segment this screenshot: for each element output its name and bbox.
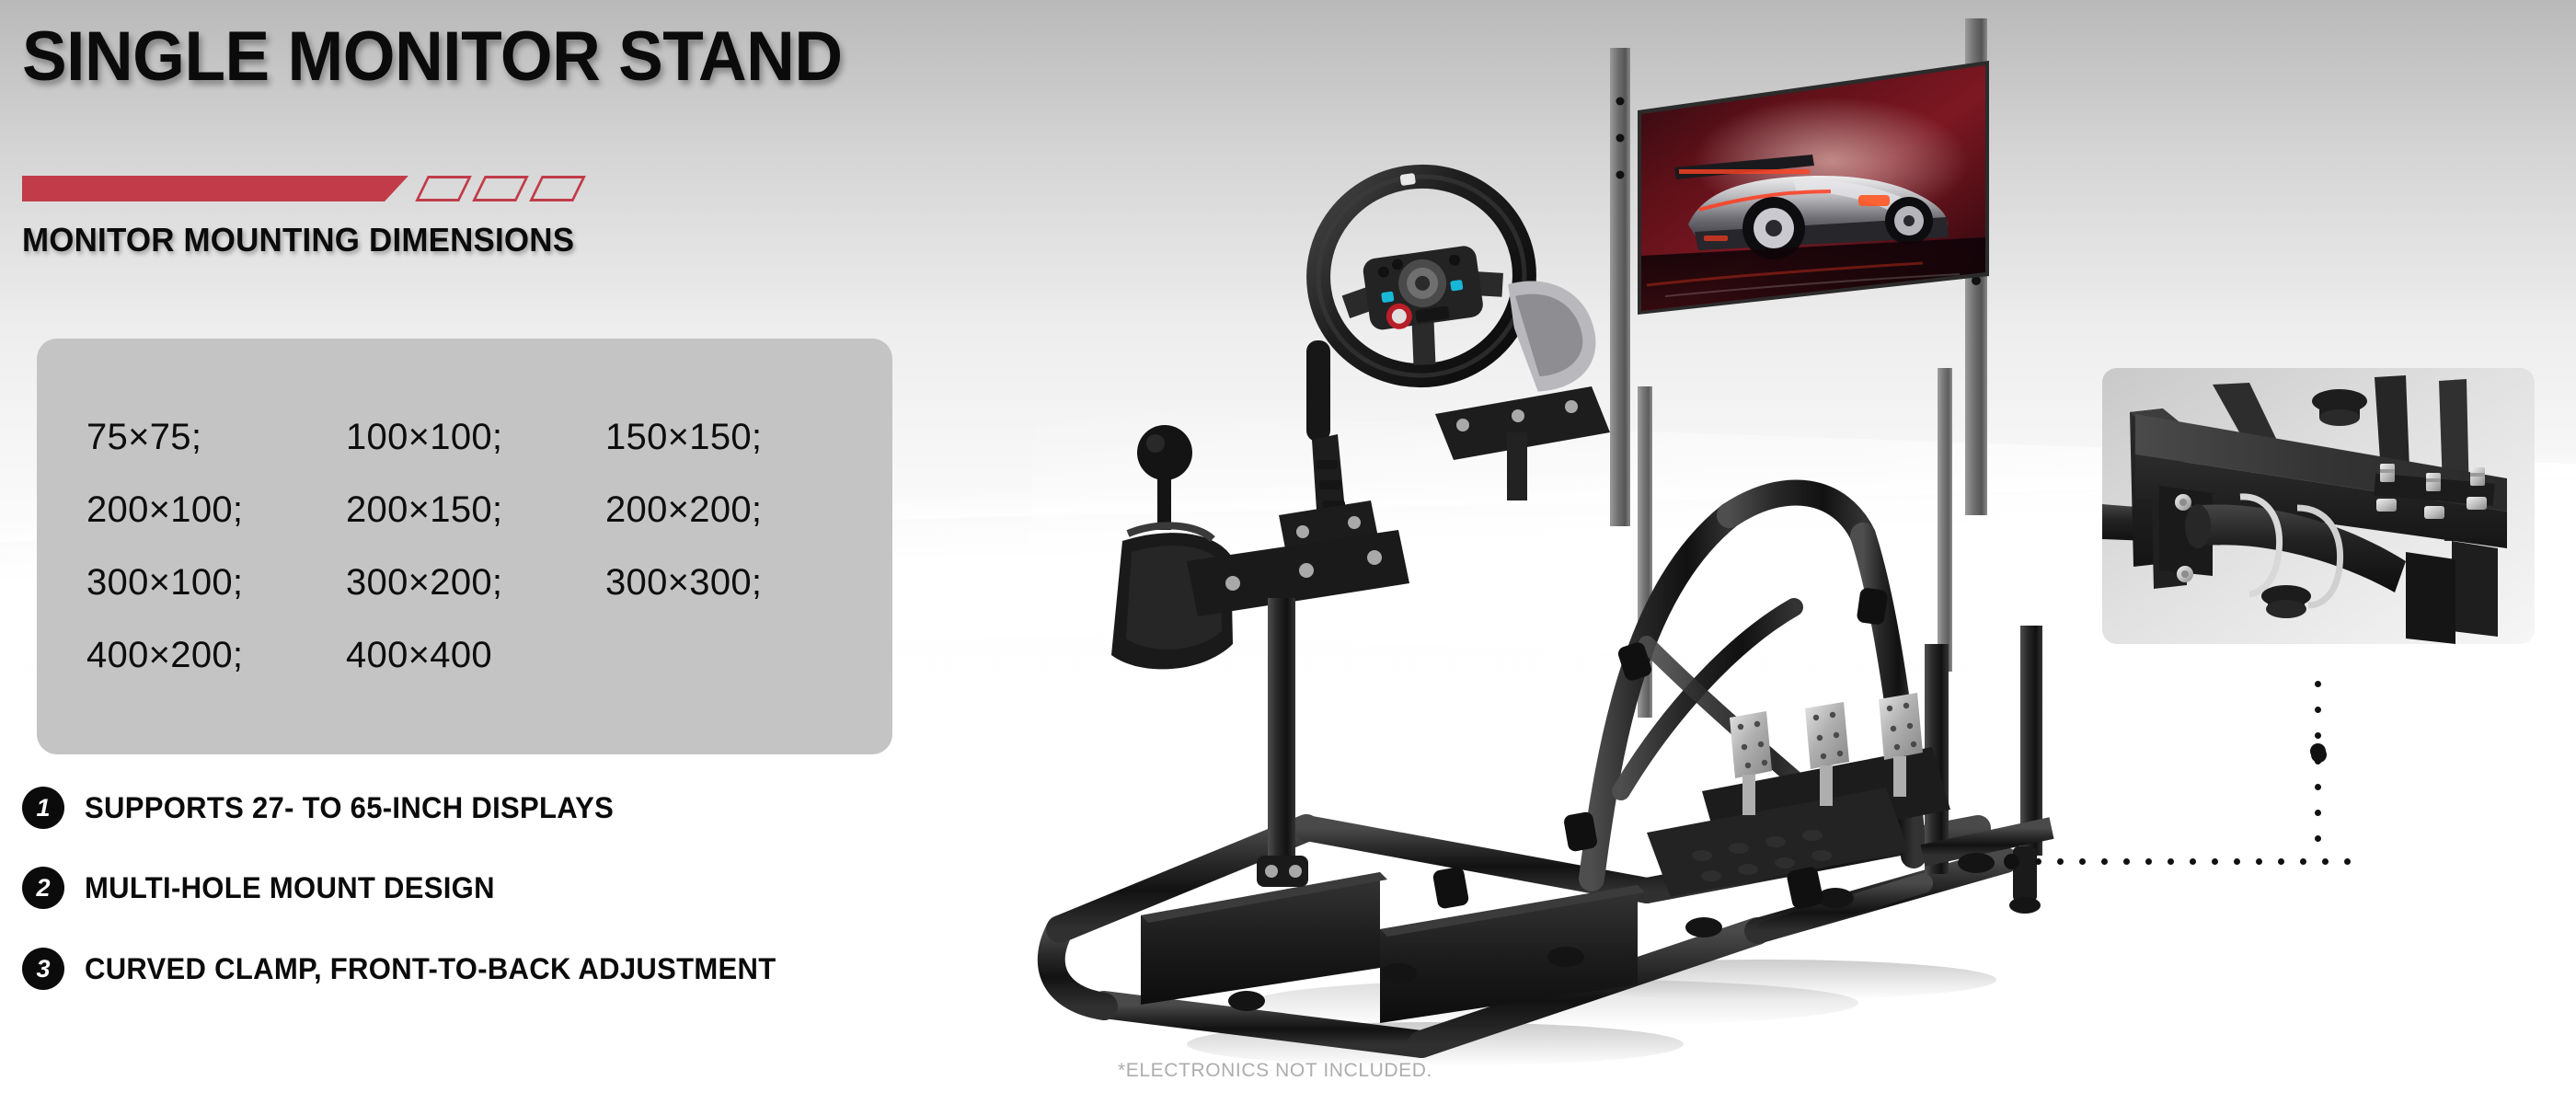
product-image (1003, 0, 2125, 1104)
disclaimer-text: *ELECTRONICS NOT INCLUDED. (1118, 1060, 1432, 1082)
measure-dot (2145, 858, 2152, 865)
measure-dot (2315, 681, 2321, 687)
dimension-value: 300×300; (605, 562, 762, 604)
dimension-value: 75×75; (86, 417, 346, 458)
monitor-screen (1638, 61, 1989, 315)
measure-dot-corner-top (2311, 747, 2327, 763)
page-title: SINGLE MONITOR STAND (22, 22, 843, 92)
dimension-value: 200×150; (346, 489, 605, 531)
measure-dot (2101, 858, 2108, 865)
feature-item-3: 3 CURVED CLAMP, FRONT-TO-BACK ADJUSTMENT (22, 948, 798, 990)
measure-dot (2344, 858, 2351, 865)
accent-bar (22, 176, 408, 201)
gear-shifter (1111, 425, 1233, 669)
feature-label: MULTI-HOLE MOUNT DESIGN (85, 871, 495, 905)
measure-dot (2315, 810, 2321, 816)
measure-dot (2079, 858, 2086, 865)
feature-item-1: 1 SUPPORTS 27- TO 65-INCH DISPLAYS (22, 787, 630, 829)
accent-divider (22, 173, 580, 204)
feature-number-badge: 1 (22, 787, 64, 829)
accent-parallelogram-1 (415, 176, 472, 201)
measure-dot (2300, 858, 2306, 865)
dimensions-row: 300×100; 300×200; 300×300; (86, 562, 892, 604)
feature-item-2: 2 MULTI-HOLE MOUNT DESIGN (22, 867, 508, 909)
measure-dot (2322, 858, 2329, 865)
measure-dot (2278, 858, 2284, 865)
dimensions-row: 400×200; 400×400 (86, 635, 892, 676)
dimension-value: 200×100; (86, 489, 346, 531)
measure-dot (2190, 858, 2196, 865)
feature-number-badge: 2 (22, 867, 64, 909)
dimension-value: 200×200; (605, 489, 762, 531)
dimension-value: 300×100; (86, 562, 346, 604)
feature-label: CURVED CLAMP, FRONT-TO-BACK ADJUSTMENT (85, 952, 776, 986)
dimension-value: 400×400 (346, 635, 492, 676)
dimension-value: 150×150; (605, 417, 762, 458)
measure-dot (2234, 858, 2240, 865)
dimensions-row: 200×100; 200×150; 200×200; (86, 489, 892, 531)
pedal-set (1647, 693, 1950, 897)
measure-dot (2315, 835, 2321, 842)
measure-dot (2123, 858, 2130, 865)
section-subtitle: MONITOR MOUNTING DIMENSIONS (22, 221, 574, 259)
feature-label: SUPPORTS 27- TO 65-INCH DISPLAYS (85, 791, 614, 825)
dimension-value: 300×200; (346, 562, 605, 604)
measure-dot (2057, 858, 2064, 865)
measure-dot (2256, 858, 2262, 865)
inset-detail-photo (2102, 368, 2535, 644)
steering-wheel (1305, 151, 1603, 420)
dimensions-row: 75×75; 100×100; 150×150; (86, 417, 892, 458)
accent-parallelogram-3 (529, 176, 586, 201)
dimension-value: 400×200; (86, 635, 346, 676)
accent-parallelogram-2 (472, 176, 529, 201)
wheel-clamp-bracket (1435, 386, 1610, 500)
measure-dot (2315, 732, 2321, 739)
measure-dot (2212, 858, 2218, 865)
measure-dot (2035, 858, 2041, 865)
dimensions-panel: 75×75; 100×100; 150×150; 200×100; 200×15… (37, 339, 892, 754)
measure-dot (2315, 707, 2321, 713)
measure-dot (2168, 858, 2174, 865)
measure-dot-corner-left (2004, 854, 2019, 869)
product-banner: SINGLE MONITOR STAND MONITOR MOUNTING DI… (0, 0, 2576, 1104)
feature-number-badge: 3 (22, 948, 64, 990)
measure-dot (2315, 784, 2321, 790)
dimension-value: 100×100; (346, 417, 605, 458)
